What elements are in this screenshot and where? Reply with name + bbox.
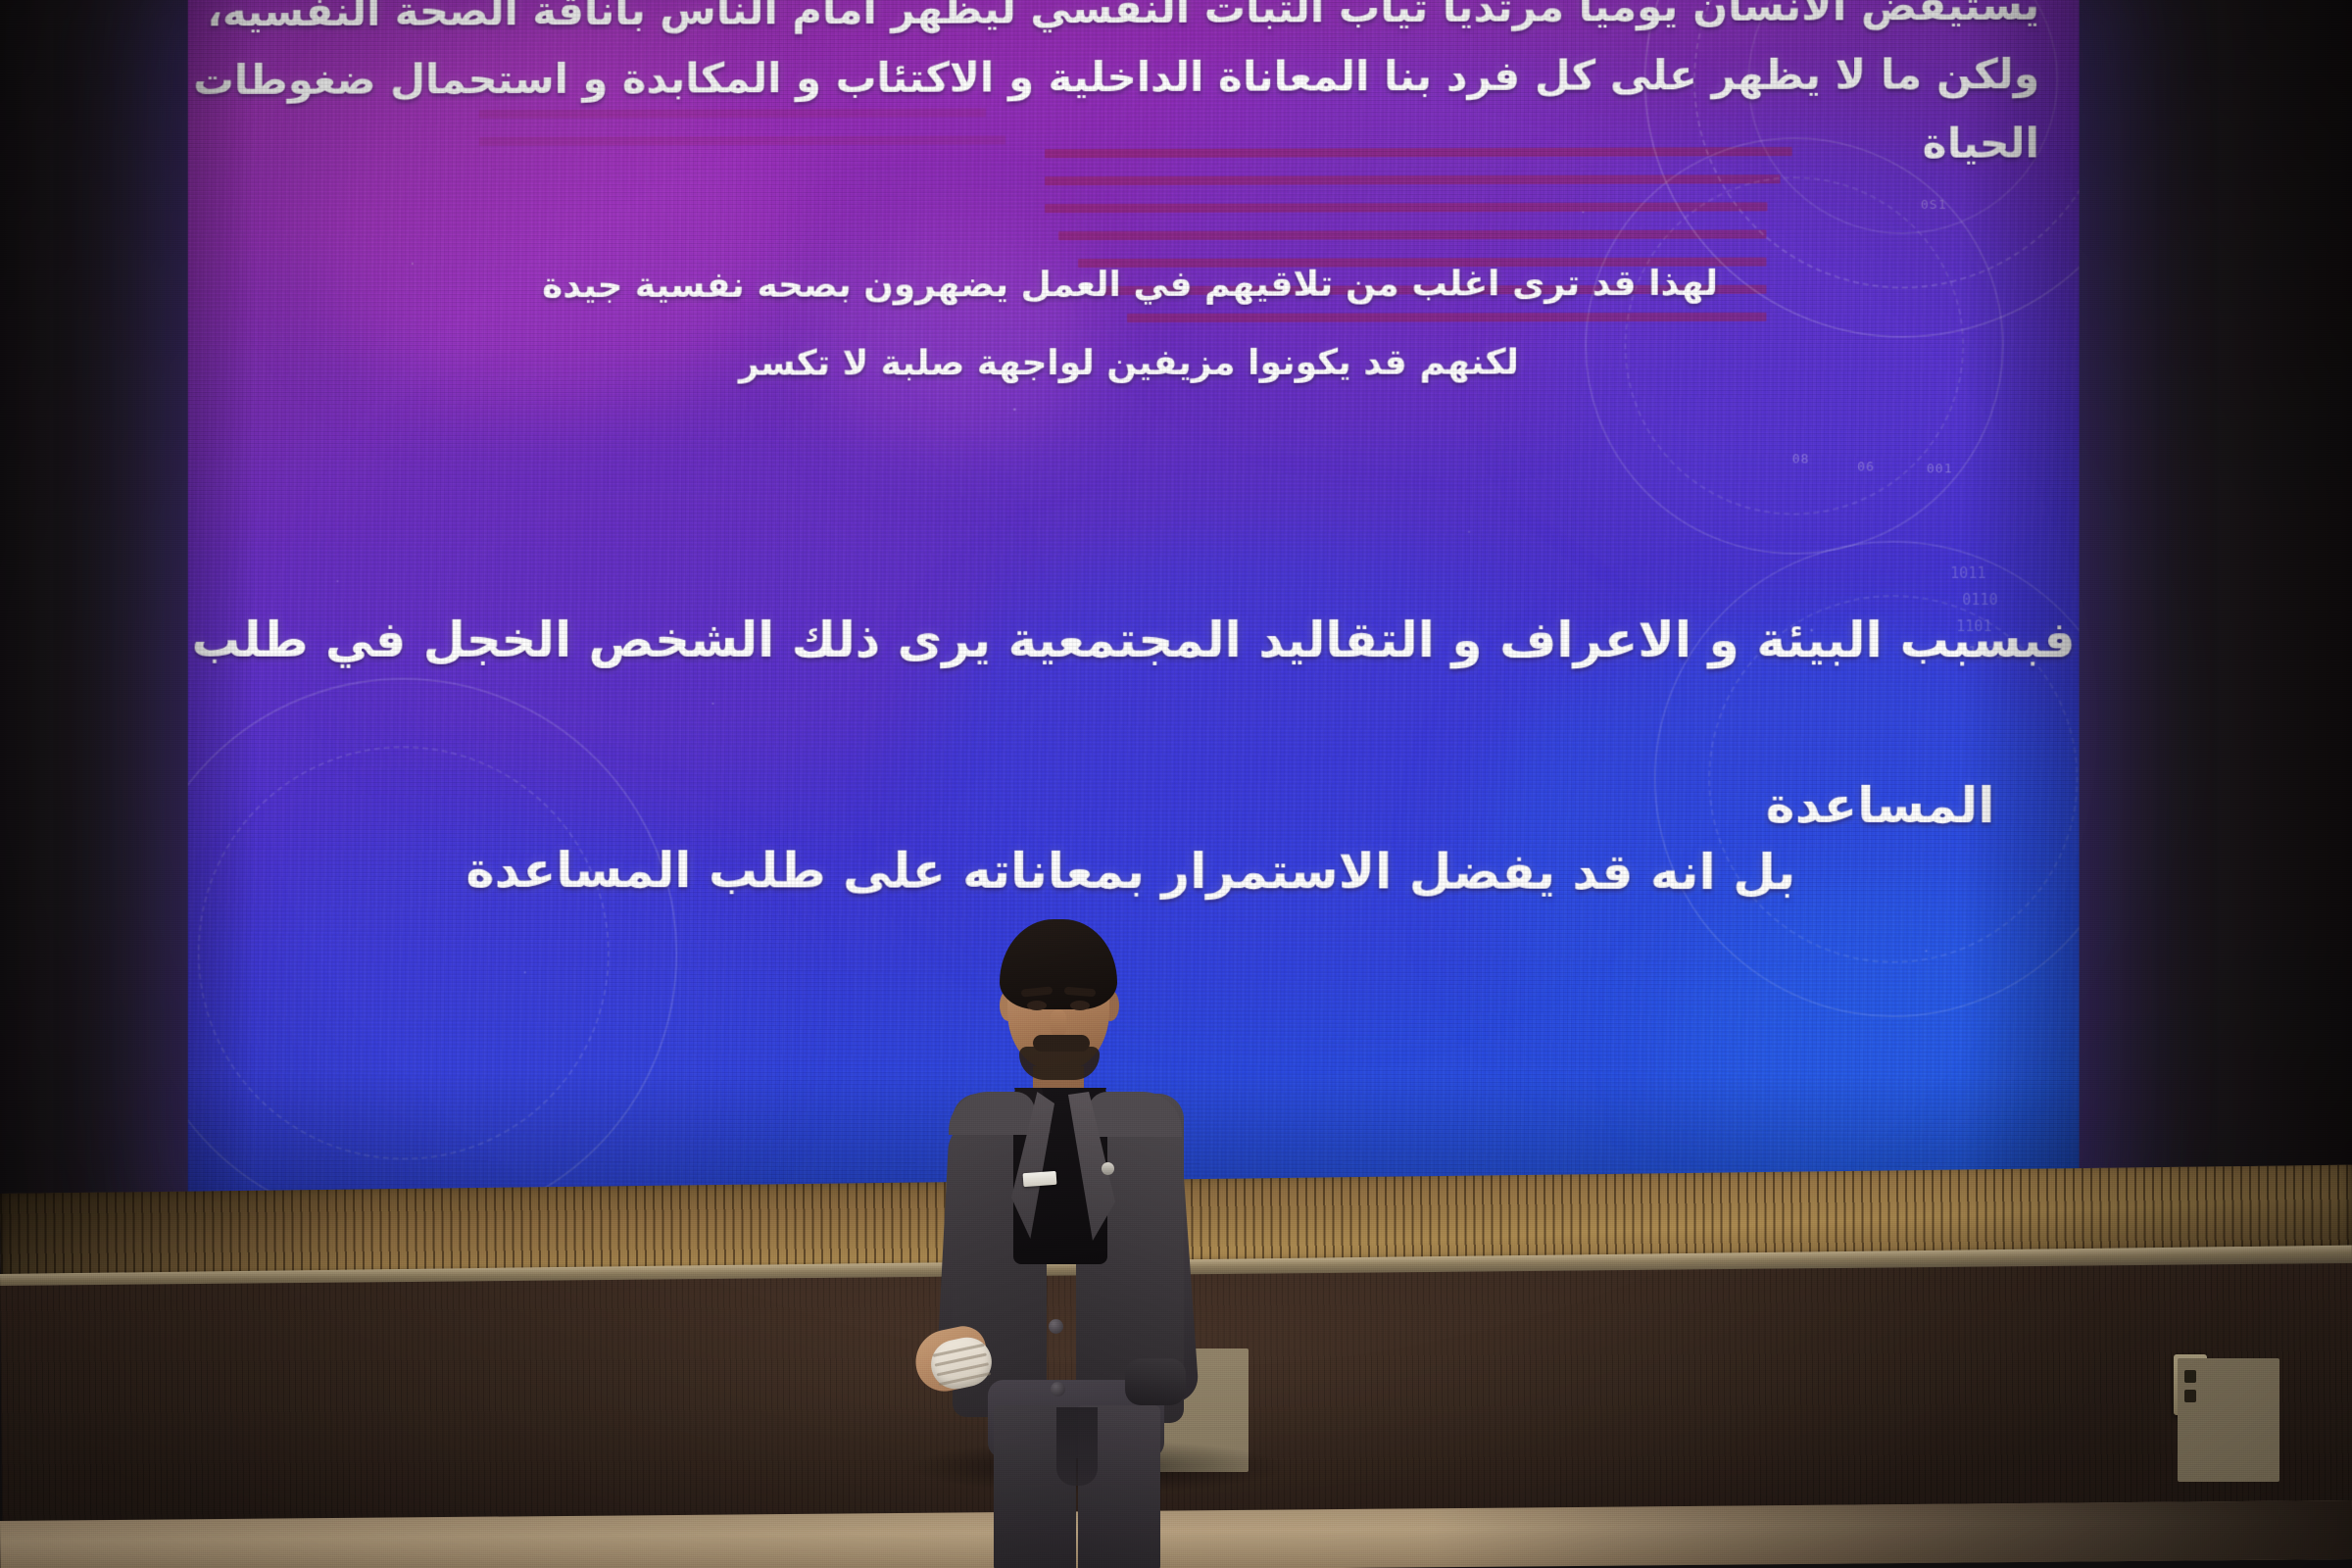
presenter-right-cuff [1125, 1358, 1186, 1405]
power-outlet-right [2174, 1354, 2207, 1415]
presenter-eye-left [1027, 1001, 1047, 1010]
screen-left-shading [188, 0, 256, 1216]
presenter-jacket-button-top [1049, 1319, 1063, 1334]
presenter-beard [1019, 1047, 1100, 1080]
presenter [929, 919, 1252, 1568]
presenter-lapel-pin [1102, 1162, 1114, 1175]
hall-right-wall [2058, 0, 2352, 1225]
hall-left-wall [0, 0, 192, 1225]
presentation-photo-scene: 08 06 001 0S1 1011 0110 1101 1001 يستيقض… [0, 0, 2352, 1568]
presenter-jacket-button-bottom [1051, 1382, 1065, 1396]
presenter-trouser-seam [1056, 1407, 1098, 1486]
presenter-nose [1051, 1009, 1066, 1037]
presenter-mustache [1033, 1035, 1090, 1052]
presenter-eye-right [1070, 1001, 1090, 1010]
presenter-name-badge [1023, 1171, 1057, 1187]
screen-right-shading [1960, 0, 2079, 1223]
presenter-hair [1000, 919, 1117, 1009]
